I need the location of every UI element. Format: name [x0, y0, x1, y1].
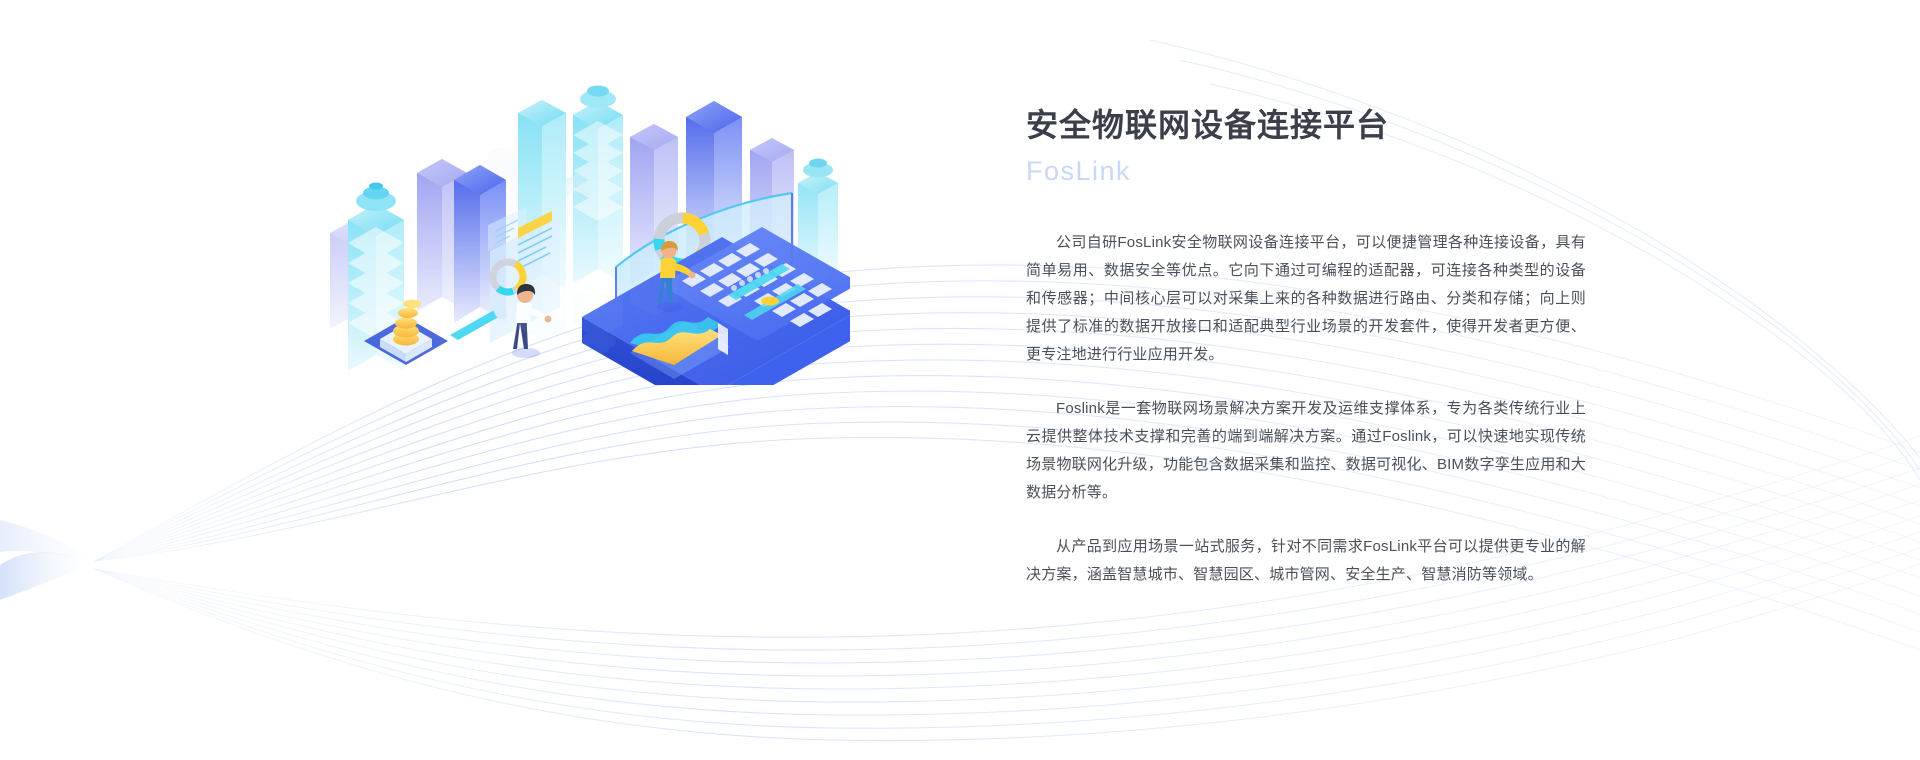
description-paragraph-1: 公司自研FosLink安全物联网设备连接平台，可以便捷管理各种连接设备，具有简单… [1026, 229, 1586, 369]
background-wave-lines [0, 0, 1920, 760]
isometric-iot-platform-illustration [330, 55, 850, 385]
hero-text-column: 安全物联网设备连接平台 FosLink 公司自研FosLink安全物联网设备连接… [1026, 103, 1586, 589]
product-name: FosLink [1026, 151, 1586, 191]
description-paragraph-3: 从产品到应用场景一站式服务，针对不同需求FosLink平台可以提供更专业的解决方… [1026, 533, 1586, 589]
hero-section: 安全物联网设备连接平台 FosLink 公司自研FosLink安全物联网设备连接… [0, 0, 1920, 760]
coin-token [761, 297, 779, 306]
page-title: 安全物联网设备连接平台 [1026, 103, 1586, 147]
description-paragraph-2: Foslink是一套物联网场景解决方案开发及运维支撑体系，专为各类传统行业上云提… [1026, 395, 1586, 507]
